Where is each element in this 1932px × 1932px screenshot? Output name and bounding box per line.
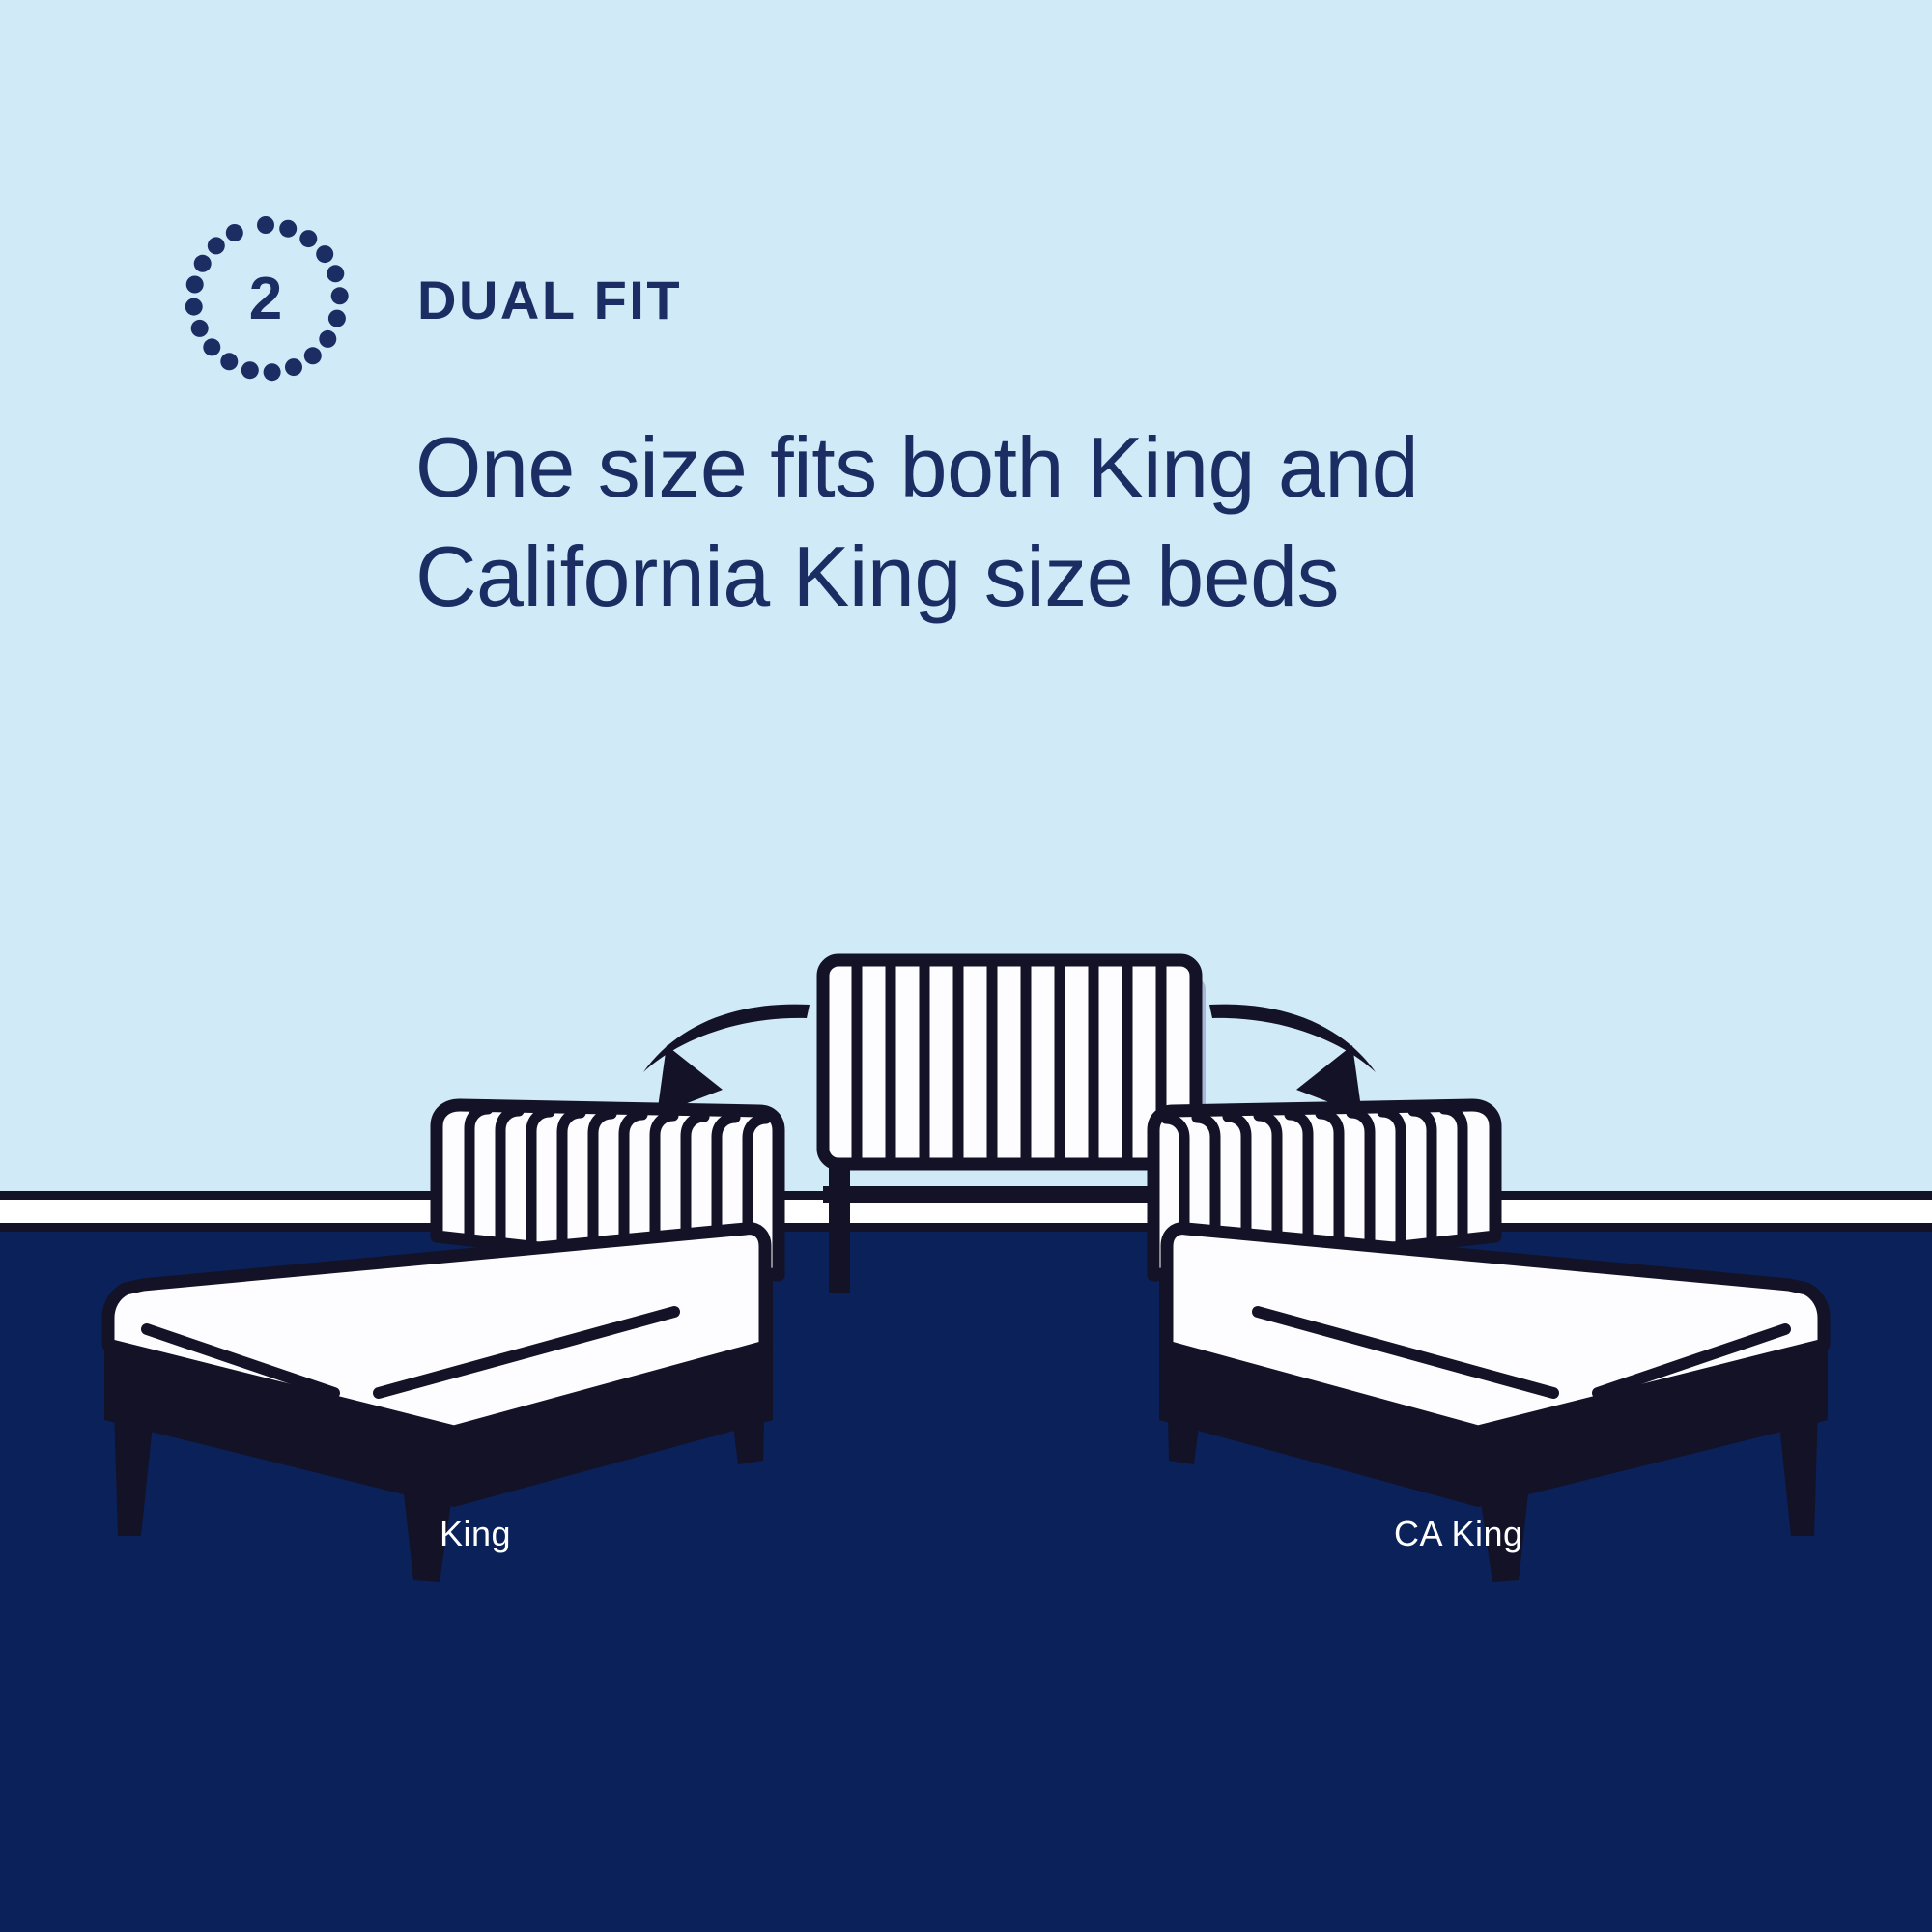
label-ca-king: CA King — [1394, 1517, 1523, 1551]
infographic-canvas: 2 DUAL FIT One size fits both King and C… — [0, 0, 1932, 1932]
baseboard-bottom-line — [0, 1223, 1932, 1232]
step-badge: 2 — [193, 227, 338, 372]
headline-line-1: One size fits both King and — [415, 413, 1768, 523]
center-frame-rail — [823, 1186, 1196, 1203]
center-leg-left — [829, 1159, 850, 1293]
label-king: King — [440, 1517, 511, 1551]
step-badge-number: 2 — [193, 227, 338, 372]
page-title: One size fits both King and California K… — [415, 413, 1768, 631]
center-headboard — [823, 960, 1196, 1164]
headline-line-2: California King size beds — [415, 523, 1768, 632]
section-eyebrow: DUAL FIT — [417, 273, 682, 327]
baseboard — [0, 1200, 1932, 1223]
